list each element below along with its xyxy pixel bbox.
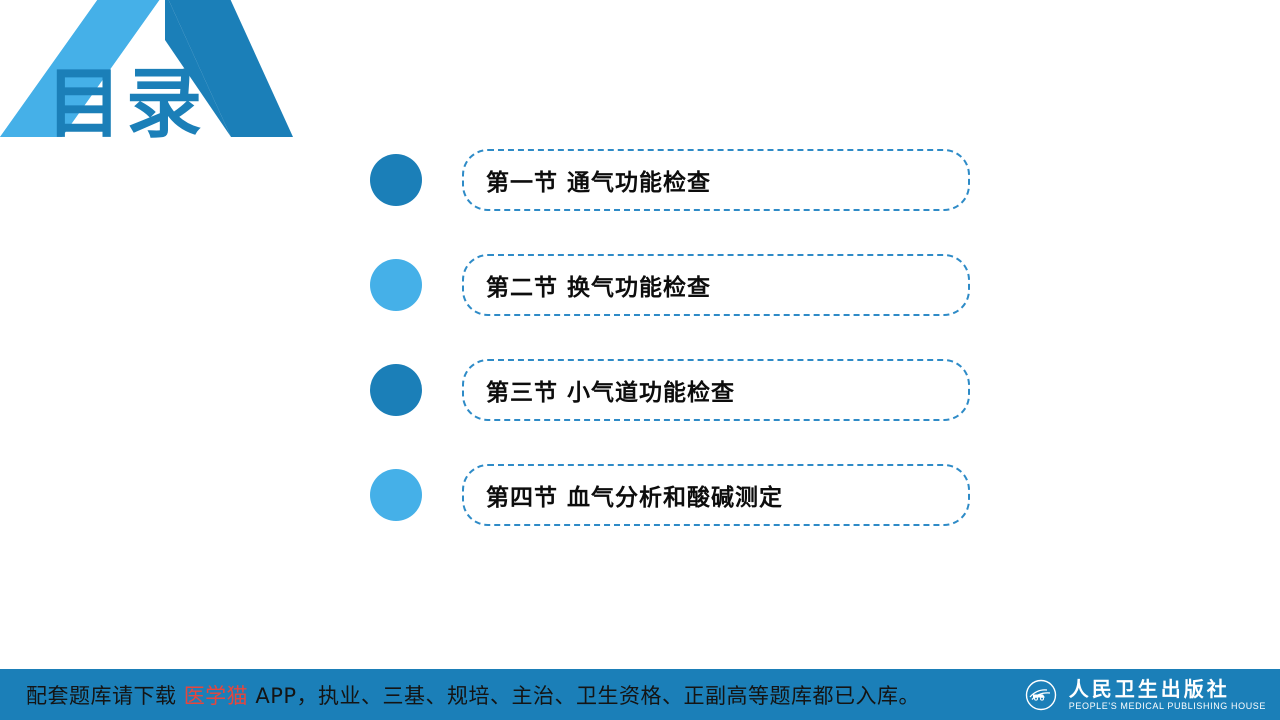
toc-list: 第一节 通气功能检查 第二节 换气功能检查 第三节 小气道功能检查 第四节 血气…: [370, 148, 970, 527]
toc-item-box[interactable]: 第三节 小气道功能检查: [462, 359, 970, 421]
bullet-icon: [370, 259, 422, 311]
publisher-logo: 人民卫生出版社 PEOPLE'S MEDICAL PUBLISHING HOUS…: [1021, 675, 1266, 715]
bullet-icon: [370, 154, 422, 206]
publisher-emblem-icon: [1021, 675, 1061, 715]
list-item[interactable]: 第三节 小气道功能检查: [370, 358, 970, 422]
toc-item-label: 第四节 血气分析和酸碱测定: [464, 478, 783, 512]
bottom-banner: 配套题库请下载 医学猫 APP，执业、三基、规培、主治、卫生资格、正副高等题库都…: [0, 669, 1280, 720]
list-item[interactable]: 第四节 血气分析和酸碱测定: [370, 463, 970, 527]
publisher-name-cn: 人民卫生出版社: [1069, 678, 1266, 700]
toc-item-label: 第三节 小气道功能检查: [464, 373, 735, 407]
list-item[interactable]: 第二节 换气功能检查: [370, 253, 970, 317]
toc-item-label: 第二节 换气功能检查: [464, 268, 711, 302]
publisher-names: 人民卫生出版社 PEOPLE'S MEDICAL PUBLISHING HOUS…: [1069, 678, 1266, 712]
publisher-name-en: PEOPLE'S MEDICAL PUBLISHING HOUSE: [1069, 700, 1266, 712]
banner-text-highlight: 医学猫: [184, 684, 249, 708]
page-title: 目录: [46, 62, 206, 146]
bullet-icon: [370, 469, 422, 521]
toc-item-label: 第一节 通气功能检查: [464, 163, 711, 197]
list-item[interactable]: 第一节 通气功能检查: [370, 148, 970, 212]
bullet-icon: [370, 364, 422, 416]
toc-item-box[interactable]: 第二节 换气功能检查: [462, 254, 970, 316]
slide-root: 目录 第一节 通气功能检查 第二节 换气功能检查 第三节 小气道功能检查 第四节: [0, 0, 1280, 720]
toc-item-box[interactable]: 第四节 血气分析和酸碱测定: [462, 464, 970, 526]
toc-item-box[interactable]: 第一节 通气功能检查: [462, 149, 970, 211]
banner-text-prefix: 配套题库请下载: [26, 684, 184, 708]
banner-text-suffix: APP，执业、三基、规培、主治、卫生资格、正副高等题库都已入库。: [248, 684, 920, 708]
banner-promo-text: 配套题库请下载 医学猫 APP，执业、三基、规培、主治、卫生资格、正副高等题库都…: [26, 680, 920, 710]
